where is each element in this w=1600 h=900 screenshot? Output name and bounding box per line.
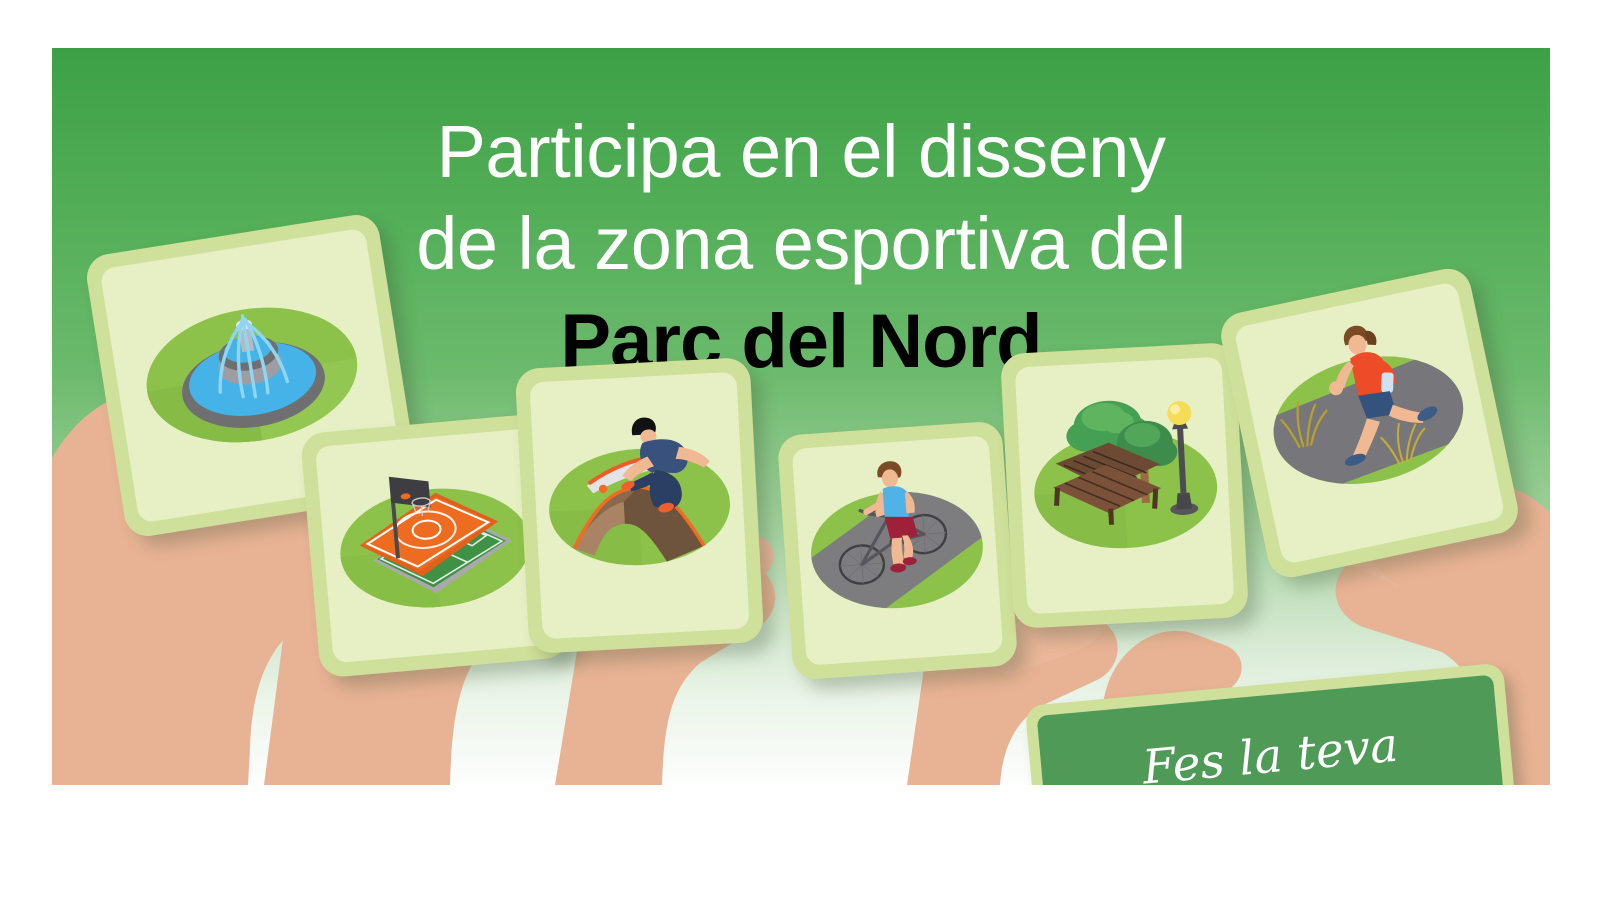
card-bench-inner [1015, 357, 1235, 614]
card-bikelane[interactable] [777, 420, 1019, 680]
card-running[interactable] [1217, 264, 1523, 581]
footer-logos: Ajuntament de Sabadell Hi col·labora: [0, 785, 1600, 900]
card-bikelane-inner [792, 435, 1004, 665]
card-running-inner [1233, 281, 1505, 565]
park-bench-icon [1015, 357, 1235, 614]
cyclist-icon [792, 435, 1004, 665]
poster-canvas: Participa en el disseny de la zona espor… [0, 0, 1600, 900]
banner-hero: Participa en el disseny de la zona espor… [52, 48, 1550, 785]
runner-icon [1233, 281, 1505, 565]
card-skatepark[interactable] [515, 357, 765, 654]
card-skatepark-inner [529, 372, 749, 639]
skateboarder-icon [529, 372, 749, 639]
card-bench[interactable] [1000, 342, 1249, 629]
